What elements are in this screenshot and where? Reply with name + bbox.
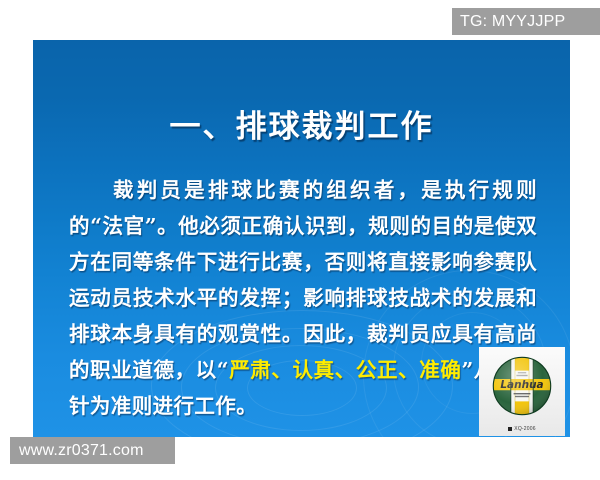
volleyball-photo: Lanhua XQ-2006 — [479, 347, 565, 436]
caption-bullet-icon — [508, 427, 512, 431]
slide-title: 一、排球裁判工作 — [33, 112, 570, 143]
body-text-highlight: 严肃、认真、公正、准确 — [229, 358, 461, 382]
body-text-segment-one: 裁判员是排球比赛的组织者，是执行规则的“法官”。他必须正确认识到，规则的目的是使… — [69, 178, 537, 382]
watermark-bottom-left: www.zr0371.com — [10, 437, 175, 464]
volleyball-caption: XQ-2006 — [479, 426, 565, 432]
watermark-top-right: TG: MYYJJPP — [452, 8, 600, 35]
volleyball-icon: Lanhua — [486, 351, 558, 421]
presentation-slide: 一、排球裁判工作 裁判员是排球比赛的组织者，是执行规则的“法官”。他必须正确认识… — [33, 40, 570, 437]
page-canvas: 一、排球裁判工作 裁判员是排球比赛的组织者，是执行规则的“法官”。他必须正确认识… — [0, 0, 600, 480]
slide-body-paragraph: 裁判员是排球比赛的组织者，是执行规则的“法官”。他必须正确认识到，规则的目的是使… — [69, 172, 537, 424]
caption-text: XQ-2006 — [514, 426, 535, 432]
